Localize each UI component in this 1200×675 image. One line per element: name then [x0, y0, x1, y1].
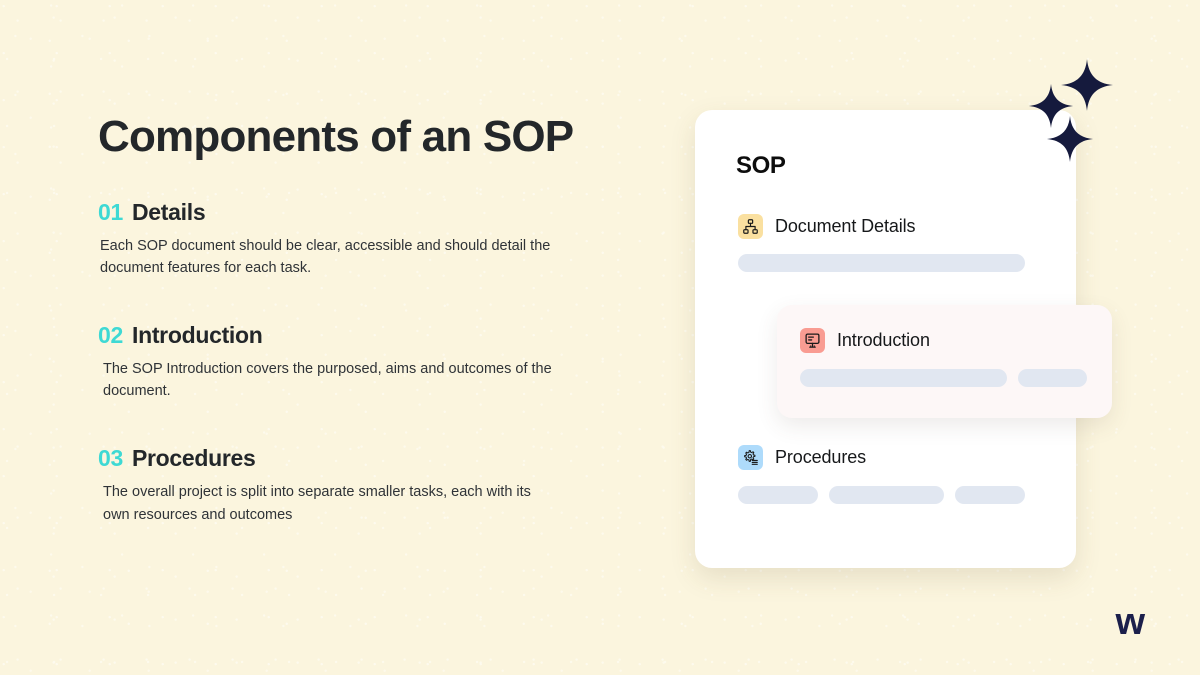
procedures-label: Procedures: [775, 447, 866, 468]
section-procedures-heading: 03 Procedures: [98, 445, 658, 472]
skeleton-bar: [738, 254, 1025, 272]
document-details-skeleton-bars: [738, 254, 1025, 272]
introduction-heading: Introduction: [800, 328, 930, 353]
section-introduction: 02 Introduction The SOP Introduction cov…: [98, 322, 658, 403]
presentation-board-icon: [800, 328, 825, 353]
brand-logo-w: w: [1115, 603, 1145, 641]
section-details-name: Details: [132, 199, 205, 226]
org-chart-icon: [738, 214, 763, 239]
section-procedures: 03 Procedures The overall project is spl…: [98, 445, 658, 526]
section-introduction-number: 02: [98, 322, 123, 349]
document-details-heading: Document Details: [738, 214, 1025, 239]
introduction-label: Introduction: [837, 330, 930, 351]
section-details-number: 01: [98, 199, 123, 226]
slide-canvas: Components of an SOP 01 Details Each SOP…: [0, 0, 1200, 675]
section-introduction-name: Introduction: [132, 322, 263, 349]
procedures-skeleton-bars: [738, 486, 1025, 504]
skeleton-bar: [738, 486, 818, 504]
section-procedures-number: 03: [98, 445, 123, 472]
skeleton-bar: [1018, 369, 1087, 387]
section-details: 01 Details Each SOP document should be c…: [98, 199, 658, 280]
procedures-heading: Procedures: [738, 445, 1025, 470]
introduction-floating-card[interactable]: Introduction: [777, 305, 1112, 418]
section-details-body: Each SOP document should be clear, acces…: [98, 235, 553, 280]
sop-card-title: SOP: [736, 152, 785, 180]
document-details-label: Document Details: [775, 216, 915, 237]
section-introduction-heading: 02 Introduction: [98, 322, 658, 349]
skeleton-bar: [800, 369, 1007, 387]
skeleton-bar: [829, 486, 944, 504]
section-procedures-name: Procedures: [132, 445, 256, 472]
section-introduction-body: The SOP Introduction covers the purposed…: [98, 358, 553, 403]
sparkle-icon-bottom: [1046, 115, 1094, 163]
section-details-heading: 01 Details: [98, 199, 658, 226]
gear-settings-icon: [738, 445, 763, 470]
introduction-skeleton-bars: [800, 369, 1087, 387]
section-procedures-body: The overall project is split into separa…: [98, 481, 553, 526]
skeleton-bar: [955, 486, 1025, 504]
card-row-document-details[interactable]: Document Details: [738, 214, 1025, 272]
page-title: Components of an SOP: [98, 112, 658, 163]
card-row-procedures[interactable]: Procedures: [738, 445, 1025, 504]
content-column: Components of an SOP 01 Details Each SOP…: [98, 112, 658, 526]
